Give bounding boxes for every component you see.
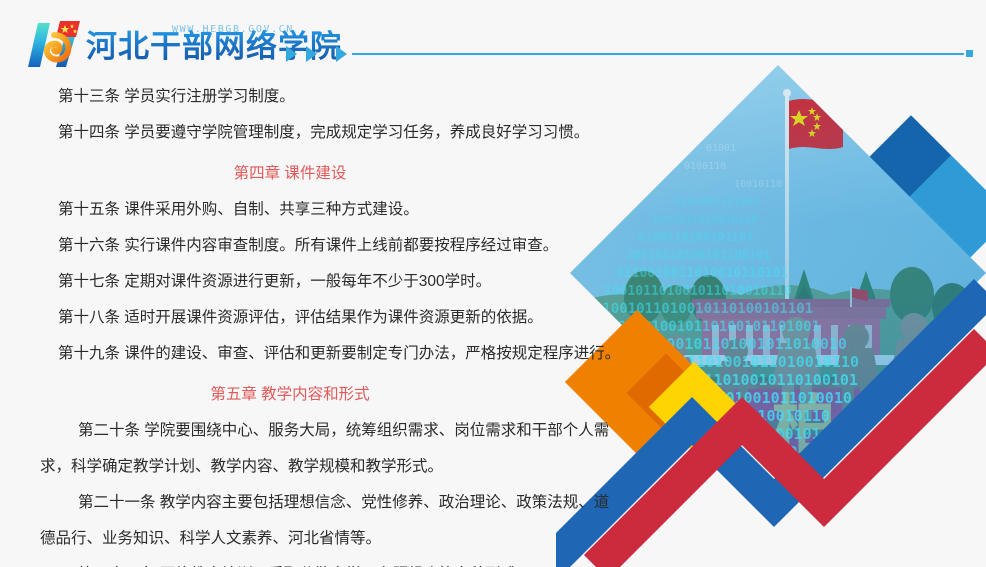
- document-body: 第十三条 学员实行注册学习制度。第十四条 学员要遵守学院管理制度，完成规定学习任…: [0, 88, 600, 567]
- svg-text:01001011010010110100101101: 01001011010010110100101101: [594, 301, 813, 317]
- slide-page: 柏 0101001101001 1001011010010110 0100110…: [0, 0, 986, 567]
- document-line: 第二十条 学院要围绕中心、服务大局，统筹组织需求、岗位需求和干部个人需: [0, 422, 600, 439]
- chapter-heading: 第五章 教学内容和形式: [0, 386, 580, 403]
- triangle-right-icon: [286, 46, 297, 62]
- document-line: 德品行、业务知识、科学人文素养、河北省情等。: [0, 530, 600, 547]
- document-line: 第二十一条 教学内容主要包括理想信念、党性修养、政治理论、政策法规、道: [0, 494, 600, 511]
- svg-text:0100110100101101: 0100110100101101: [638, 230, 754, 244]
- document-line: 第十六条 实行课件内容审查制度。所有课件上线前都要按程序经过审查。: [0, 237, 600, 254]
- diamond-photo-collage: 柏 0101001101001 1001011010010110 0100110…: [556, 55, 986, 567]
- svg-text:0100110: 0100110: [684, 161, 726, 172]
- document-line: 第十五条 课件采用外购、自制、共享三种方式建设。: [0, 201, 600, 218]
- triangle-right-icon: [306, 46, 317, 62]
- svg-text:0110010011010010110101: 0110010011010010110101: [616, 266, 788, 281]
- site-header: WWW.HEBGB.GOV.CN 河北干部网络学院: [0, 0, 986, 82]
- svg-text:10010110: 10010110: [734, 179, 782, 190]
- site-brand-title: 河北干部网络学院: [86, 30, 342, 64]
- header-rule-endcap: [966, 50, 973, 57]
- document-line: 求，科学确定教学计划、教学内容、教学规模和教学形式。: [0, 458, 600, 475]
- svg-text:100101101001011010010110: 100101101001011010010110: [604, 284, 792, 299]
- hebgb-logo-icon[interactable]: [26, 19, 82, 71]
- triangle-right-icon: [336, 46, 347, 62]
- svg-text:0101001101001: 0101001101001: [674, 195, 760, 208]
- svg-text:10010110100101100101: 10010110100101100101: [626, 248, 771, 262]
- chapter-heading: 第四章 课件建设: [0, 165, 580, 182]
- header-rule: [352, 53, 964, 55]
- document-line: 第十三条 学员实行注册学习制度。: [0, 88, 600, 105]
- svg-text:1001011010010110: 1001011010010110: [652, 213, 758, 226]
- document-line: 第十八条 适时开展课件资源评估，评估结果作为课件资源更新的依据。: [0, 309, 600, 326]
- document-line: 第十四条 学员要遵守学院管理制度，完成规定学习任务，养成良好学习习惯。: [0, 124, 600, 141]
- svg-text:01001: 01001: [706, 143, 736, 154]
- document-line: 第十七条 定期对课件资源进行更新，一般每年不少于300学时。: [0, 273, 600, 290]
- document-line: 第十九条 课件的建设、审查、评估和更新要制定专门办法，严格按规定程序进行。: [0, 345, 600, 362]
